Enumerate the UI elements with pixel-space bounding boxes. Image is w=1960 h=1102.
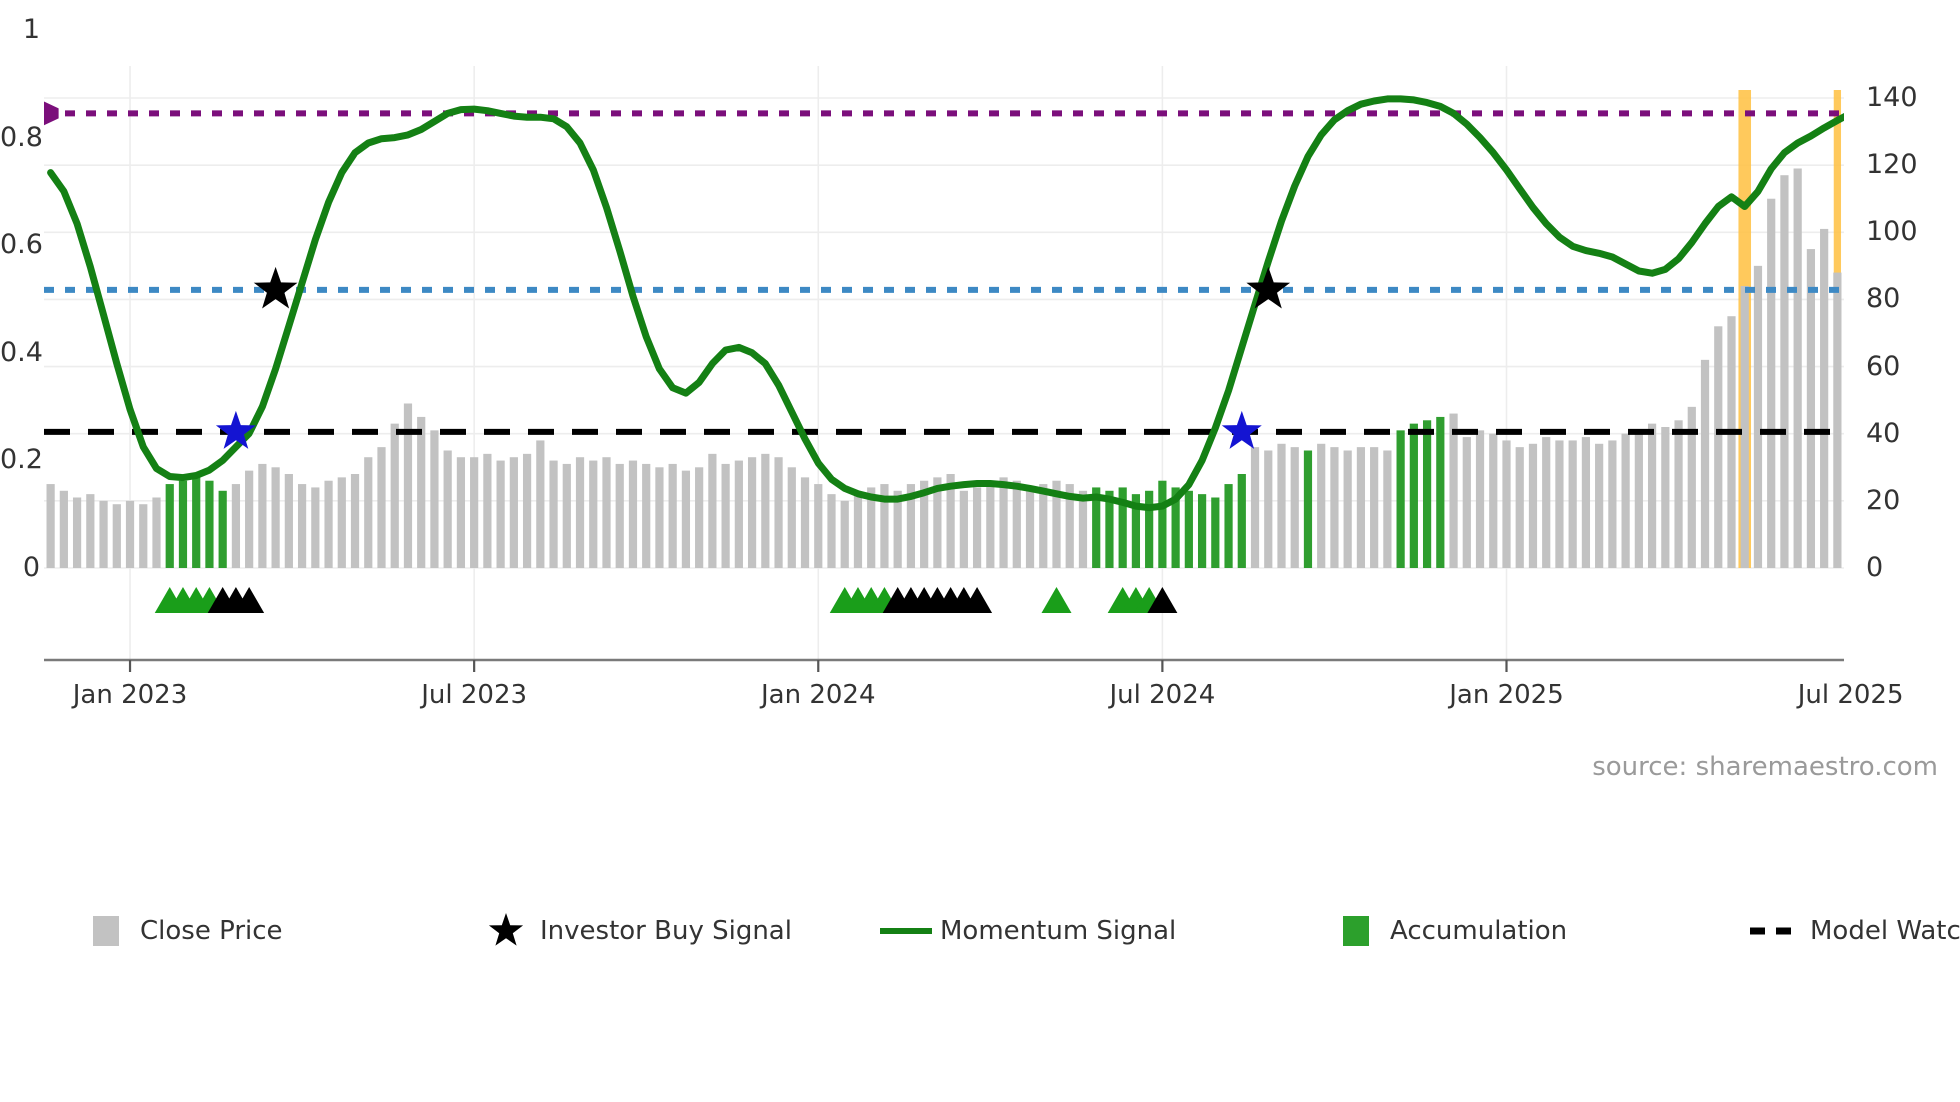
close-price-bar: [1794, 169, 1802, 569]
close-price-bar: [1013, 481, 1021, 568]
close-price-bar: [377, 447, 385, 568]
square-swatch: [1343, 916, 1369, 946]
close-price-bar: [1635, 430, 1643, 568]
accumulation-bar: [1436, 417, 1444, 568]
close-price-bar: [523, 454, 531, 568]
close-price-bar: [986, 484, 994, 568]
y-axis-right-tick: 80: [1866, 285, 1926, 312]
y-axis-right-tick: 120: [1866, 151, 1926, 178]
y-axis-right-tick: 20: [1866, 487, 1926, 514]
close-price-bar: [258, 464, 266, 568]
close-price-bar: [1569, 440, 1577, 568]
accumulation-bar: [1185, 491, 1193, 568]
accumulation-bar: [192, 477, 200, 568]
close-price-bar: [245, 471, 253, 568]
x-axis-tick-label: Jul 2025: [1771, 682, 1931, 708]
x-axis-tick-label: Jan 2025: [1427, 682, 1587, 708]
close-price-bar: [364, 457, 372, 568]
close-price-bar: [1674, 420, 1682, 568]
legend-line-icon: [1748, 915, 1804, 946]
accumulation-bar: [1198, 494, 1206, 568]
close-price-bar: [444, 451, 452, 569]
close-price-bar: [1833, 273, 1841, 568]
close-price-bar: [536, 440, 544, 568]
close-price-bar: [1370, 447, 1378, 568]
accumulation-bar: [179, 481, 187, 568]
close-price-bar: [814, 484, 822, 568]
close-price-bar: [1595, 444, 1603, 568]
close-price-bar: [589, 461, 597, 568]
chart-root: 10.80.60.40.20 140120100806040200 Jan 20…: [0, 0, 1960, 1102]
accumulation-bar: [219, 491, 227, 568]
accumulation-bar: [1158, 481, 1166, 568]
close-price-bar: [60, 491, 68, 568]
close-price-bar: [576, 457, 584, 568]
legend-line-icon: [878, 915, 934, 946]
close-price-bar: [1542, 437, 1550, 568]
close-price-bar: [788, 467, 796, 568]
accumulation-bar: [1423, 420, 1431, 568]
close-price-bar: [1039, 484, 1047, 568]
close-price-bar: [1026, 487, 1034, 568]
y-axis-left-tick: 0.4: [0, 339, 40, 366]
close-price-bar: [1741, 286, 1749, 568]
close-price-bar: [1780, 175, 1788, 568]
close-price-bar: [232, 484, 240, 568]
close-price-bar: [722, 464, 730, 568]
accumulation-bar: [166, 484, 174, 568]
legend-label: Investor Buy Signal: [540, 916, 792, 946]
y-axis-left-tick: 0.2: [0, 446, 40, 473]
accumulation-bar: [1397, 430, 1405, 568]
close-price-bar: [1516, 447, 1524, 568]
legend-label: Model Watching: [1810, 916, 1960, 946]
close-price-bar: [999, 477, 1007, 568]
close-price-bar: [391, 424, 399, 568]
y-axis-left-tick: 0.8: [0, 124, 40, 151]
source-note: source: sharemaestro.com: [1592, 752, 1938, 782]
chart-legend: Close PriceInvestor Buy SignalMomentum S…: [78, 915, 1938, 946]
square-swatch: [93, 916, 119, 946]
close-price-bar: [1767, 199, 1775, 568]
demand-threshold-marker: [44, 93, 59, 133]
close-price-bar: [457, 457, 465, 568]
legend-model-watching[interactable]: Model Watching: [1748, 915, 1960, 946]
close-price-bar: [1383, 451, 1391, 569]
close-price-bar: [1502, 440, 1510, 568]
close-price-bar: [430, 430, 438, 568]
close-price-bar: [1820, 229, 1828, 568]
close-price-bar: [113, 504, 121, 568]
close-price-bar: [616, 464, 624, 568]
close-price-bar: [708, 454, 716, 568]
accumulation-bar: [1211, 498, 1219, 569]
close-price-bar: [1449, 414, 1457, 568]
x-axis-tick-label: Jan 2024: [738, 682, 898, 708]
close-price-bar: [1357, 447, 1365, 568]
close-price-bar: [1476, 430, 1484, 568]
y-axis-right-tick: 60: [1866, 353, 1926, 380]
close-price-bar: [152, 498, 160, 569]
close-price-bar: [563, 464, 571, 568]
close-price-bar: [73, 498, 81, 569]
close-price-bar: [417, 417, 425, 568]
y-axis-left-tick: 0.6: [0, 231, 40, 258]
close-price-bar: [1079, 491, 1087, 568]
close-price-bar: [351, 474, 359, 568]
close-price-bar: [285, 474, 293, 568]
close-price-bar: [1727, 316, 1735, 568]
close-price-bar: [311, 487, 319, 568]
close-price-bar: [602, 457, 610, 568]
close-price-bar: [642, 464, 650, 568]
close-price-bar: [1555, 440, 1563, 568]
accumulation-bar: [1410, 424, 1418, 568]
close-price-bar: [272, 467, 280, 568]
close-price-bar: [748, 457, 756, 568]
accumulation-triangle-marker: [1042, 587, 1072, 613]
close-price-bar: [1317, 444, 1325, 568]
y-axis-right-tick: 140: [1866, 84, 1926, 111]
close-price-bar: [1489, 434, 1497, 568]
accumulation-bar: [1224, 484, 1232, 568]
close-price-bar: [695, 467, 703, 568]
close-price-bar: [1701, 360, 1709, 568]
close-price-bar: [470, 457, 478, 568]
legend-label: Momentum Signal: [940, 916, 1176, 946]
legend-investor-buy-signal[interactable]: Investor Buy Signal: [478, 915, 878, 946]
close-price-bar: [669, 464, 677, 568]
close-price-bar: [1344, 451, 1352, 569]
close-price-bar: [1582, 437, 1590, 568]
smart-money-buy-signal-star[interactable]: [1222, 411, 1262, 449]
close-price-bar: [1463, 437, 1471, 568]
close-price-bar: [1529, 444, 1537, 568]
close-price-bar: [1754, 266, 1762, 568]
close-price-bar: [774, 457, 782, 568]
close-price-bar: [973, 487, 981, 568]
close-price-bar: [126, 501, 134, 568]
close-price-bar: [99, 501, 107, 568]
legend-square-icon: [78, 915, 134, 946]
close-price-bar: [1251, 447, 1259, 568]
close-price-bar: [497, 461, 505, 568]
close-price-bar: [761, 454, 769, 568]
y-axis-left-tick: 1: [0, 16, 40, 43]
accumulation-bar: [1145, 491, 1153, 568]
close-price-bar: [549, 461, 557, 568]
legend-accumulation-bar[interactable]: Accumulation: [1328, 915, 1748, 946]
close-price-bar: [801, 477, 809, 568]
y-axis-right-tick: 0: [1866, 554, 1926, 581]
close-price-bar: [735, 461, 743, 568]
close-price-bar: [1807, 249, 1815, 568]
close-price-bar: [324, 481, 332, 568]
close-price-bar: [1622, 434, 1630, 568]
y-axis-right-tick: 100: [1866, 218, 1926, 245]
legend-momentum-signal[interactable]: Momentum Signal: [878, 915, 1328, 946]
close-price-bar: [338, 477, 346, 568]
legend-square-icon: [1328, 915, 1384, 946]
close-price-bar: [1661, 427, 1669, 568]
legend-close-price[interactable]: Close Price: [78, 915, 478, 946]
close-price-bar: [510, 457, 518, 568]
x-axis-tick-label: Jul 2024: [1082, 682, 1242, 708]
accumulation-bar: [1238, 474, 1246, 568]
close-price-bar: [298, 484, 306, 568]
close-price-bar: [1608, 440, 1616, 568]
close-price-bar: [47, 484, 55, 568]
y-axis-left-tick: 0: [0, 554, 40, 581]
accumulation-bar: [1304, 451, 1312, 569]
legend-label: Accumulation: [1390, 916, 1567, 946]
close-price-bar: [655, 467, 663, 568]
x-axis-tick-label: Jan 2023: [50, 682, 210, 708]
close-price-bar: [682, 471, 690, 568]
close-price-bar: [1330, 447, 1338, 568]
close-price-bar: [1714, 326, 1722, 568]
close-price-bar: [854, 494, 862, 568]
close-price-bar: [960, 491, 968, 568]
close-price-bar: [404, 404, 412, 569]
close-price-bar: [86, 494, 94, 568]
close-price-bar: [1277, 444, 1285, 568]
y-axis-right-tick: 40: [1866, 420, 1926, 447]
close-price-bar: [841, 501, 849, 568]
close-price-bar: [1291, 447, 1299, 568]
close-price-bar: [827, 494, 835, 568]
close-price-bar: [139, 504, 147, 568]
close-price-bar: [629, 461, 637, 568]
x-axis-tick-label: Jul 2023: [394, 682, 554, 708]
legend-label: Close Price: [140, 916, 283, 946]
legend-star-icon: [478, 915, 534, 946]
close-price-bar: [1264, 451, 1272, 569]
close-price-bar: [1648, 424, 1656, 568]
close-price-bar: [483, 454, 491, 568]
accumulation-bar: [205, 481, 213, 568]
